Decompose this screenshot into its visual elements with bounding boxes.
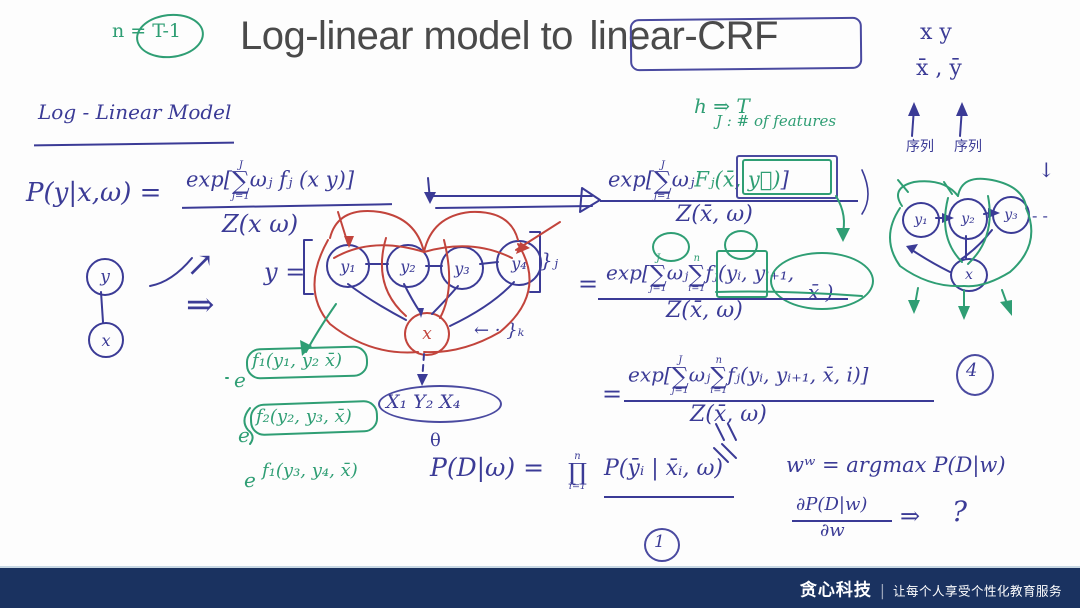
eq1-exp: exp[ [608, 167, 654, 191]
center-oval-outline [378, 385, 502, 423]
eq1-sum: J ∑ j=1 [654, 160, 672, 202]
label-xbar-ybar: x̄ , ȳ [916, 58, 962, 80]
num-body: ωⱼ fⱼ (x y)] [250, 167, 354, 191]
bracket-label-j: }ⱼ [540, 250, 558, 270]
eq2-exp: exp[ [606, 260, 650, 284]
eq2-green-oval [770, 252, 874, 310]
footer-bar: 贪心科技|让每个人享受个性化教育服务 [0, 568, 1080, 608]
feature-prefix-3: e [244, 470, 256, 490]
left-heading-underline [34, 142, 234, 147]
likelihood-rhs: P(ȳᵢ | x̄ᵢ, ω) [604, 458, 723, 480]
log-linear-numerator: exp[ J ∑ j=1 ωⱼ fⱼ (x y)] [186, 160, 354, 202]
eq3-fraction-bar [624, 400, 934, 402]
prod-symbol: n ∏ i=1 [568, 452, 587, 492]
arrow-implies-left: ⇒ [186, 288, 215, 322]
footer-brand: 贪心科技 [800, 581, 872, 601]
eq3-equals: = [602, 382, 622, 406]
title-highlight-box [630, 17, 863, 71]
feature-box-2 [249, 400, 378, 436]
eq3-sum-j: J ∑ j=1 [672, 356, 689, 396]
likelihood-product: n ∏ i=1 [568, 452, 587, 492]
question-mark: ? [952, 498, 967, 526]
eq2-denominator: Z(x̄, ω) [666, 300, 743, 322]
graph-center-node-y3: y₃ [440, 246, 484, 290]
argmax-expression: wʷ = argmax P(D|w) [786, 455, 1006, 476]
eq2-circle-j [652, 232, 690, 262]
footer-text: 贪心科技|让每个人享受个性化教育服务 [800, 576, 1062, 601]
bracket-label-k: ← · }ₖ [474, 322, 524, 340]
likelihood-lhs: P(D|ω) = [430, 455, 544, 480]
feature-prefix-1: e [234, 370, 246, 390]
graph-left-node-x: x [88, 322, 124, 358]
num-exp-open: exp[ [186, 167, 232, 191]
log-linear-fraction-bar [182, 203, 392, 209]
likelihood-circled-number: 1 [654, 534, 665, 551]
eq2-green-box [716, 250, 768, 298]
cn-note-left: 序列 [906, 140, 934, 154]
eq1-weight: ωⱼ [672, 167, 695, 191]
footer-tagline: 让每个人享受个性化教育服务 [893, 584, 1062, 599]
feature-text-3: f₁(y₃, y₄, x̄) [262, 462, 358, 480]
graph-right-dashes: - - [1032, 208, 1048, 224]
log-linear-lhs: P(y|x,ω) = [26, 180, 161, 206]
footer-top-rule [0, 566, 1080, 568]
graph-center-node-y1: y₁ [326, 244, 370, 288]
slide-canvas: Log-linear model to linear-CRF n = T-1 x… [0, 0, 1080, 608]
graph-right-node-y1: y₁ [902, 202, 940, 238]
graph-right-node-y2: y₂ [948, 198, 988, 240]
note-j-features: J : # of features [716, 114, 836, 129]
eq3-circled-number: 4 [966, 362, 977, 380]
arrow-up-left: ↗ [186, 248, 215, 282]
note-n-circle [134, 11, 206, 62]
eq2-equals: = [578, 272, 598, 296]
theta-note: θ [430, 432, 441, 450]
eq1-denominator: Z(x̄, ω) [676, 204, 753, 226]
derivative-numerator: ∂P(D|w) [796, 496, 867, 514]
eq2-sum-i: n ∑ i=1 [688, 254, 705, 294]
eq3-numerator: exp[ J ∑ j=1 ωⱼ n ∑ i=1 fⱼ(yᵢ, yᵢ₊₁, x̄,… [628, 356, 868, 396]
feature-box-1 [246, 345, 369, 379]
num-sum: J ∑ j=1 [232, 160, 250, 202]
eq1-purple-box [736, 155, 838, 199]
y-vector-label: y = [264, 260, 305, 284]
eq2-weight: ωⱼ [667, 260, 689, 284]
eq3-f: fⱼ [727, 362, 740, 386]
graph-center-node-y4: y₄ [496, 240, 542, 286]
log-linear-denominator: Z(x ω) [222, 212, 298, 236]
graph-right-node-x: x [950, 258, 988, 292]
feature-prefix-2: e [238, 425, 250, 445]
graph-left-node-y: y [86, 258, 124, 296]
likelihood-underline [604, 496, 734, 498]
eq3-args: (yᵢ, yᵢ₊₁, x̄, i)] [740, 362, 868, 386]
left-heading: Log - Linear Model [38, 102, 231, 122]
down-arrow-right: ↓ [1038, 160, 1055, 180]
eq3-exp: exp[ [628, 362, 672, 386]
graph-center-node-y2: y₂ [386, 244, 430, 288]
cn-note-right: 序列 [954, 140, 982, 154]
derivative-denominator: ∂w [820, 522, 845, 540]
eq3-weight: ωⱼ [689, 362, 711, 386]
eq3-sum-i: n ∑ i=1 [710, 356, 727, 396]
label-x-y: x y [920, 22, 952, 44]
graph-center-node-x: x [404, 312, 450, 356]
footer-separator: | [880, 582, 885, 600]
eq3-denominator: Z(x̄, ω) [690, 404, 767, 426]
derivative-arrow: ⇒ [900, 504, 920, 528]
title-part1: Log-linear model to [240, 14, 584, 58]
graph-right-node-y3: y₃ [992, 196, 1030, 234]
